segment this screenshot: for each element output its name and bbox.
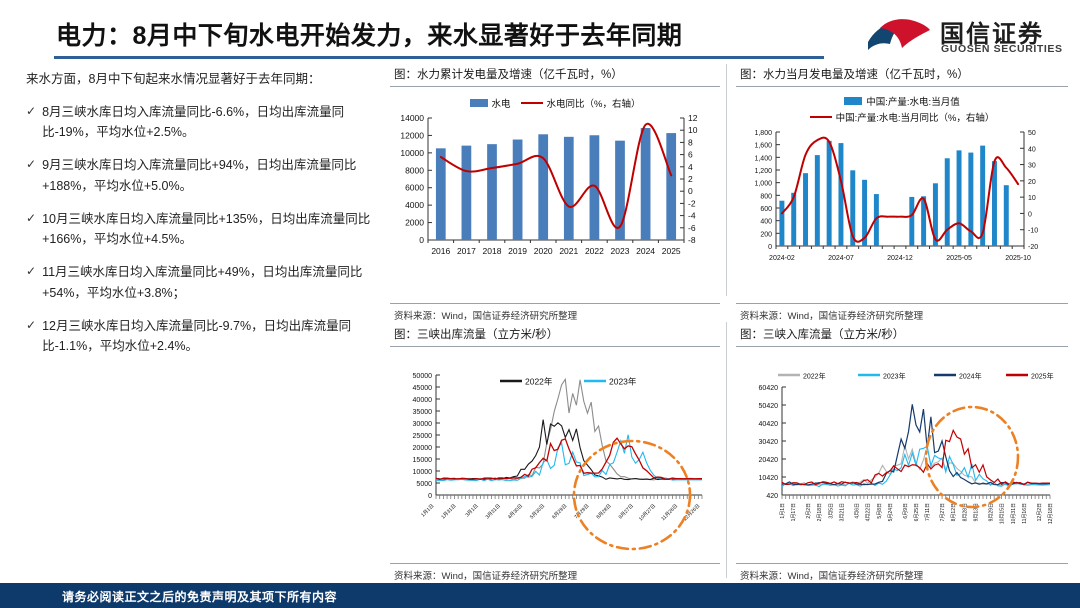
legend-item-hydro-yoy: 水电同比（%，右轴） (521, 96, 641, 110)
list-item-text: 8月三峡水库日均入库流量同比-6.6%，日均出库流量同比-19%，平均水位+2.… (42, 102, 376, 143)
svg-text:2025: 2025 (662, 246, 681, 256)
legend-label: 水电同比（%，右轴） (547, 96, 641, 110)
chart-plot-area: 02000400060008000100001200014000-8-6-4-2… (388, 110, 722, 280)
list-item: ✓ 8月三峡水库日均入库流量同比-6.6%，日均出库流量同比-19%，平均水位+… (26, 102, 376, 143)
svg-text:50000: 50000 (413, 373, 433, 380)
svg-text:2023: 2023 (611, 246, 630, 256)
list-item: ✓ 12月三峡水库日均入库流量同比-9.7%，日均出库流量同比-1.1%，平均水… (26, 316, 376, 357)
svg-text:3月1日: 3月1日 (465, 503, 480, 518)
svg-text:6月25日: 6月25日 (914, 503, 920, 521)
svg-text:-10: -10 (1028, 228, 1038, 235)
svg-text:9月29日: 9月29日 (988, 503, 994, 521)
svg-text:12: 12 (688, 113, 698, 123)
svg-text:2020: 2020 (534, 246, 553, 256)
chart-plot-area: 2022年2023年050001000015000200002500030000… (388, 347, 722, 562)
check-icon: ✓ (26, 316, 36, 357)
svg-text:-20: -20 (1028, 244, 1038, 251)
chart-source-outflow: 资料来源：Wind，国信证券经济研究所整理 (388, 563, 722, 583)
source-text: 资料来源：Wind，国信证券经济研究所整理 (388, 304, 722, 322)
svg-text:2024-07: 2024-07 (828, 255, 854, 262)
chart-title: 图：三峡入库流量（立方米/秒） (734, 326, 1070, 346)
svg-text:5月8日: 5月8日 (877, 503, 883, 519)
hydro-monthly-svg: 02004006008001,0001,2001,4001,6001,800-2… (734, 124, 1070, 286)
chart-source-hydro-cumulative: 资料来源：Wind，国信证券经济研究所整理 (388, 303, 722, 323)
svg-text:2月2日: 2月2日 (806, 503, 812, 519)
legend-item-hydro: 水电 (470, 96, 511, 110)
panel-divider-vertical-bottom (726, 322, 727, 578)
svg-text:0: 0 (419, 235, 424, 245)
svg-text:800: 800 (760, 193, 772, 200)
chart-title: 图：水力当月发电量及增速（亿千瓦时，%） (734, 66, 1070, 86)
svg-text:2022年: 2022年 (803, 372, 826, 381)
svg-text:3月31日: 3月31日 (485, 503, 502, 520)
svg-text:2025-10: 2025-10 (1005, 255, 1031, 262)
svg-text:0: 0 (768, 244, 772, 251)
legend-swatch-bar (470, 99, 488, 107)
source-text: 资料来源：Wind，国信证券经济研究所整理 (734, 304, 1070, 322)
check-icon: ✓ (26, 155, 36, 196)
svg-text:8月12日: 8月12日 (951, 503, 957, 521)
page-title: 电力：8月中下旬水电开始发力，来水显著好于去年同期 (56, 16, 682, 52)
inflow-svg: 2022年2023年2024年2025年42010420204203042040… (734, 347, 1070, 562)
svg-text:10000: 10000 (413, 469, 433, 476)
svg-text:2024-02: 2024-02 (769, 255, 795, 262)
svg-text:40000: 40000 (413, 397, 433, 404)
svg-text:8: 8 (688, 137, 693, 147)
lead-paragraph: 来水方面，8月中下旬起来水情况显著好于去年同期： (26, 70, 376, 89)
chart-panel-hydro-monthly: 图：水力当月发电量及增速（亿千瓦时，%） 中国:产量:水电:当月值 中国:产量:… (734, 66, 1070, 296)
svg-text:3月5日: 3月5日 (828, 503, 834, 519)
chart-source-hydro-monthly: 资料来源：Wind，国信证券经济研究所整理 (734, 303, 1070, 323)
chart-legend: 水电 水电同比（%，右轴） (388, 96, 722, 110)
svg-text:2016: 2016 (431, 246, 450, 256)
hydro-cumulative-svg: 02000400060008000100001200014000-8-6-4-2… (388, 110, 722, 280)
svg-text:-6: -6 (688, 223, 696, 233)
svg-text:1月31日: 1月31日 (440, 503, 457, 520)
list-item-text: 9月三峡水库日均入库流量同比+94%，日均出库流量同比+188%，平均水位+5.… (42, 155, 376, 196)
svg-text:4月6日: 4月6日 (854, 503, 860, 519)
company-logo: 国信证券 GUOSEN SECURITIES (866, 14, 1066, 60)
legend-swatch-line (521, 102, 543, 105)
svg-text:1,800: 1,800 (754, 130, 772, 137)
svg-text:6: 6 (688, 150, 693, 160)
legend-label: 中国:产量:水电:当月值 (866, 94, 959, 108)
svg-text:60420: 60420 (759, 385, 779, 392)
svg-text:1,000: 1,000 (754, 181, 772, 188)
svg-text:30: 30 (1028, 163, 1036, 170)
panel-divider-vertical-top (726, 64, 727, 296)
svg-text:4: 4 (688, 162, 693, 172)
svg-text:35000: 35000 (413, 409, 433, 416)
svg-text:4月30日: 4月30日 (507, 503, 524, 520)
svg-text:10: 10 (688, 125, 698, 135)
chart-title: 图：水力累计发电量及增速（亿千瓦时，%） (388, 66, 722, 86)
svg-text:8月28日: 8月28日 (596, 503, 613, 520)
svg-text:30000: 30000 (413, 421, 433, 428)
check-icon: ✓ (26, 102, 36, 143)
legend-swatch-line (810, 116, 832, 119)
svg-text:600: 600 (760, 206, 772, 213)
svg-text:400: 400 (760, 219, 772, 226)
summary-text-column: 来水方面，8月中下旬起来水情况显著好于去年同期： ✓ 8月三峡水库日均入库流量同… (26, 70, 376, 369)
chart-plot-area: 02004006008001,0001,2001,4001,6001,800-2… (734, 124, 1070, 286)
svg-text:5000: 5000 (416, 481, 432, 488)
svg-text:40420: 40420 (759, 421, 779, 428)
svg-text:1月1日: 1月1日 (780, 503, 786, 519)
legend-swatch-bar (844, 97, 862, 105)
svg-text:11月16日: 11月16日 (1022, 503, 1028, 524)
svg-text:20: 20 (1028, 179, 1036, 186)
source-text: 资料来源：Wind，国信证券经济研究所整理 (388, 564, 722, 582)
svg-text:10000: 10000 (400, 148, 424, 158)
title-divider (390, 86, 720, 87)
legend-label: 水电 (492, 96, 511, 110)
svg-text:-2: -2 (688, 198, 696, 208)
slide: 电力：8月中下旬水电开始发力，来水显著好于去年同期 国信证券 GUOSEN SE… (0, 0, 1080, 608)
svg-text:0: 0 (428, 493, 432, 500)
svg-text:0: 0 (1028, 211, 1032, 218)
svg-text:2000: 2000 (405, 218, 424, 228)
svg-text:10: 10 (1028, 195, 1036, 202)
svg-text:-4: -4 (688, 211, 696, 221)
svg-text:40: 40 (1028, 146, 1036, 153)
svg-text:6月9日: 6月9日 (903, 503, 909, 519)
list-item-text: 12月三峡水库日均入库流量同比-9.7%，日均出库流量同比-1.1%，平均水位+… (42, 316, 376, 357)
slide-header: 电力：8月中下旬水电开始发力，来水显著好于去年同期 国信证券 GUOSEN SE… (0, 0, 1080, 62)
svg-text:12000: 12000 (400, 130, 424, 140)
logo-text-en: GUOSEN SECURITIES (941, 43, 1063, 55)
list-item: ✓ 11月三峡水库日均入库流量同比+49%，日均出库流量同比+54%，平均水位+… (26, 262, 376, 303)
svg-text:2: 2 (688, 174, 693, 184)
svg-text:12月2日: 12月2日 (1037, 503, 1043, 521)
svg-text:7月11日: 7月11日 (925, 503, 931, 521)
outflow-svg: 2022年2023年050001000015000200002500030000… (388, 347, 722, 562)
svg-text:1,200: 1,200 (754, 168, 772, 175)
svg-text:50: 50 (1028, 130, 1036, 137)
svg-text:50420: 50420 (759, 403, 779, 410)
svg-text:30420: 30420 (759, 439, 779, 446)
svg-text:1,400: 1,400 (754, 155, 772, 162)
chart-panel-hydro-cumulative: 图：水力累计发电量及增速（亿千瓦时，%） 水电 水电同比（%，右轴） 02000… (388, 66, 722, 296)
svg-text:20000: 20000 (413, 445, 433, 452)
svg-text:2023年: 2023年 (883, 372, 906, 381)
svg-text:11月26日: 11月26日 (660, 503, 679, 522)
title-divider (736, 86, 1068, 87)
list-item: ✓ 10月三峡水库日均入库流量同比+135%，日均出库流量同比+166%，平均水… (26, 209, 376, 250)
chart-title: 图：三峡出库流量（立方米/秒） (388, 326, 722, 346)
svg-text:4000: 4000 (405, 200, 424, 210)
svg-text:10月27日: 10月27日 (638, 503, 657, 522)
svg-text:200: 200 (760, 231, 772, 238)
svg-text:1月1日: 1月1日 (420, 503, 435, 518)
source-text: 资料来源：Wind，国信证券经济研究所整理 (734, 564, 1070, 582)
check-icon: ✓ (26, 262, 36, 303)
legend-item-monthly-value: 中国:产量:水电:当月值 (844, 94, 959, 108)
svg-text:-8: -8 (688, 235, 696, 245)
check-icon: ✓ (26, 209, 36, 250)
svg-text:3月21日: 3月21日 (840, 503, 846, 521)
legend-item-monthly-yoy: 中国:产量:水电:当月同比（%，右轴） (810, 110, 995, 124)
chart-panel-outflow: 图：三峡出库流量（立方米/秒） 2022年2023年05000100001500… (388, 326, 722, 566)
svg-text:2018: 2018 (483, 246, 502, 256)
svg-text:2024-12: 2024-12 (887, 255, 913, 262)
svg-text:2024年: 2024年 (959, 372, 982, 381)
svg-text:7月27日: 7月27日 (940, 503, 946, 521)
svg-text:420: 420 (766, 493, 778, 500)
svg-text:6000: 6000 (405, 183, 424, 193)
svg-text:2017: 2017 (457, 246, 476, 256)
svg-text:2023年: 2023年 (609, 377, 637, 387)
svg-text:0: 0 (688, 186, 693, 196)
svg-text:2021: 2021 (559, 246, 578, 256)
title-underline (54, 56, 824, 59)
svg-text:8000: 8000 (405, 165, 424, 175)
svg-text:2022: 2022 (585, 246, 604, 256)
svg-text:5月30日: 5月30日 (529, 503, 546, 520)
svg-text:12月18日: 12月18日 (1048, 503, 1054, 524)
svg-text:2019: 2019 (508, 246, 527, 256)
svg-text:2025年: 2025年 (1031, 372, 1054, 381)
svg-text:2022年: 2022年 (525, 377, 553, 387)
list-item: ✓ 9月三峡水库日均入库流量同比+94%，日均出库流量同比+188%，平均水位+… (26, 155, 376, 196)
svg-text:14000: 14000 (400, 113, 424, 123)
footer-text: 请务必阅读正文之后的免责声明及其项下所有内容 (62, 588, 337, 605)
chart-source-inflow: 资料来源：Wind，国信证券经济研究所整理 (734, 563, 1070, 583)
svg-text:25000: 25000 (413, 433, 433, 440)
svg-text:6月29日: 6月29日 (551, 503, 568, 520)
svg-text:9月27日: 9月27日 (618, 503, 635, 520)
svg-text:2024: 2024 (636, 246, 655, 256)
guosen-logo-icon (866, 16, 932, 56)
slide-footer: 请务必阅读正文之后的免责声明及其项下所有内容 (0, 583, 1080, 608)
chart-legend: 中国:产量:水电:当月值 中国:产量:水电:当月同比（%，右轴） (734, 94, 1070, 124)
svg-text:20420: 20420 (759, 457, 779, 464)
svg-text:5月24日: 5月24日 (888, 503, 894, 521)
list-item-text: 10月三峡水库日均入库流量同比+135%，日均出库流量同比+166%，平均水位+… (42, 209, 376, 250)
svg-text:45000: 45000 (413, 385, 433, 392)
chart-plot-area: 2022年2023年2024年2025年42010420204203042040… (734, 347, 1070, 562)
svg-text:1月17日: 1月17日 (791, 503, 797, 521)
svg-text:4月22日: 4月22日 (866, 503, 872, 521)
svg-text:10月15日: 10月15日 (1000, 503, 1006, 524)
svg-text:10420: 10420 (759, 475, 779, 482)
svg-text:1,600: 1,600 (754, 143, 772, 150)
svg-text:10月31日: 10月31日 (1011, 503, 1017, 524)
svg-text:2月18日: 2月18日 (817, 503, 823, 521)
list-item-text: 11月三峡水库日均入库流量同比+49%，日均出库流量同比+54%，平均水位+3.… (42, 262, 376, 303)
svg-text:2025-05: 2025-05 (946, 255, 972, 262)
svg-text:15000: 15000 (413, 457, 433, 464)
legend-label: 中国:产量:水电:当月同比（%，右轴） (836, 110, 995, 124)
chart-panel-inflow: 图：三峡入库流量（立方米/秒） 2022年2023年2024年2025年4201… (734, 326, 1070, 566)
